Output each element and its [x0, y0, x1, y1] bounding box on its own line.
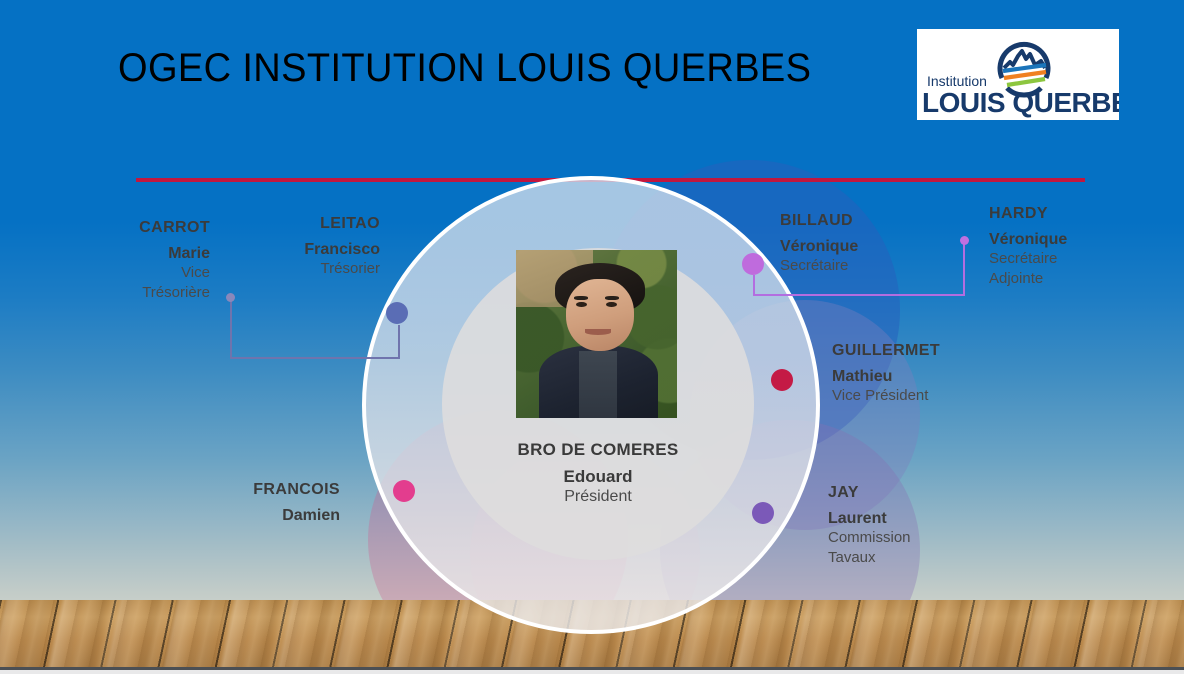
president-surname: BRO DE COMERES [440, 440, 756, 460]
leitao-given-name: Francisco [180, 241, 380, 259]
connector-carrot-vertical [230, 300, 232, 358]
carrot-role-line2: Trésorière [30, 284, 210, 303]
guillermet-role-line1: Vice Président [832, 387, 1072, 406]
jay-surname: JAY [828, 484, 1048, 502]
jay-role-line1: Commission [828, 529, 1048, 548]
member-card-president: BRO DE COMERES Edouard Président [440, 440, 756, 506]
node-dot-francois [393, 480, 415, 502]
billaud-given-name: Véronique [780, 238, 1010, 256]
leitao-surname: LEITAO [180, 215, 380, 233]
connector-dot-hardy [960, 236, 969, 245]
connector-leitao-vertical [398, 325, 400, 358]
member-card-leitao: LEITAO Francisco Trésorier [180, 215, 380, 279]
connector-hardy-horizontal [753, 294, 965, 296]
node-dot-leitao [386, 302, 408, 324]
hardy-role-line1: Secrétaire [989, 250, 1179, 269]
avatar-president [516, 250, 677, 418]
president-given-name: Edouard [440, 467, 756, 487]
photo-shirt [579, 351, 618, 418]
hardy-surname: HARDY [989, 205, 1179, 223]
photo-brow-right [605, 296, 619, 300]
page-title: OGEC INSTITUTION LOUIS QUERBES [118, 46, 811, 91]
hardy-role-line2: Adjointe [989, 270, 1179, 289]
jay-role-line2: Tavaux [828, 549, 1048, 568]
member-card-francois: FRANCOIS Damien [140, 481, 340, 525]
leitao-role-line1: Trésorier [180, 260, 380, 279]
guillermet-surname: GUILLERMET [832, 342, 1072, 360]
logo-name-label: LOUIS QUERBES [922, 87, 1119, 119]
connector-dot-carrot [226, 293, 235, 302]
node-dot-billaud [742, 253, 764, 275]
hardy-given-name: Véronique [989, 231, 1179, 249]
logo: Institution LOUIS QUERBES [917, 29, 1119, 120]
photo-face [566, 279, 634, 351]
francois-given-name: Damien [140, 507, 340, 525]
jay-given-name: Laurent [828, 510, 1048, 528]
photo-brow-left [574, 296, 588, 300]
member-card-hardy: HARDY Véronique Secrétaire Adjointe [989, 205, 1179, 289]
connector-billaud-vertical [753, 275, 755, 296]
billaud-role-line1: Secrétaire [780, 257, 1010, 276]
connector-hardy-vertical [963, 243, 965, 295]
slide-canvas: OGEC INSTITUTION LOUIS QUERBES Instituti… [0, 0, 1184, 674]
president-role: Président [440, 488, 756, 506]
member-card-jay: JAY Laurent Commission Tavaux [828, 484, 1048, 568]
guillermet-given-name: Mathieu [832, 368, 1072, 386]
member-card-guillermet: GUILLERMET Mathieu Vice Président [832, 342, 1072, 406]
member-card-billaud: BILLAUD Véronique Secrétaire [780, 212, 1010, 276]
node-dot-guillermet [771, 369, 793, 391]
photo-mouth [585, 329, 611, 335]
billaud-surname: BILLAUD [780, 212, 1010, 230]
connector-carrot-horizontal [230, 357, 400, 359]
node-dot-jay [752, 502, 774, 524]
slide-footer-strip [0, 670, 1184, 674]
francois-surname: FRANCOIS [140, 481, 340, 499]
